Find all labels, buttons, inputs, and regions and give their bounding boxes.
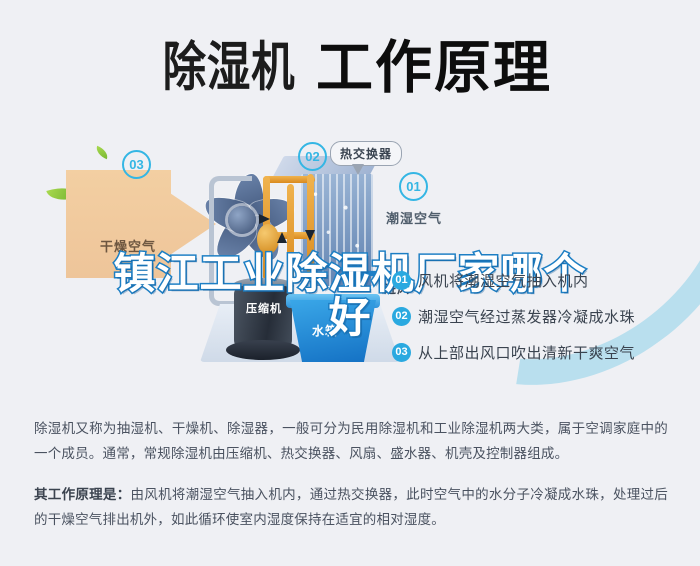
title-part-one: 除湿机 xyxy=(163,25,296,101)
dry-air-label: 干燥空气 xyxy=(100,236,156,255)
heat-exchanger-callout: 热交换器 xyxy=(330,141,402,166)
diagram-badge-02: 02 xyxy=(298,142,327,171)
humid-air-label: 潮湿空气 xyxy=(386,208,442,227)
page-root: 除湿机工作原理 干燥空气 03 xyxy=(0,0,700,566)
paragraph-two: 其工作原理是：由风机将潮湿空气抽入机内，通过热交换器，此时空气中的水分子冷凝成水… xyxy=(34,482,668,532)
step-list: 01 风机将潮湿空气抽入机内 02 潮湿空气经过蒸发器冷凝成水珠 03 从上部出… xyxy=(392,262,692,370)
compressor-label: 压缩机 xyxy=(246,300,282,316)
flow-arrow-up-icon xyxy=(277,232,287,243)
refrigerant-pipes-icon xyxy=(253,170,323,288)
water-tank-label: 水箱 xyxy=(312,322,338,339)
list-item: 02 潮湿空气经过蒸发器冷凝成水珠 xyxy=(392,298,692,334)
step-text: 从上部出风口吹出清新干爽空气 xyxy=(418,342,635,363)
compressor-base-ring xyxy=(226,340,300,360)
body-copy: 除湿机又称为抽湿机、干燥机、除湿器，一般可分为民用除湿机和工业除湿机两大类，属于… xyxy=(34,416,668,548)
leaf-icon xyxy=(94,146,110,160)
diagram-badge-03: 03 xyxy=(122,150,151,179)
diagram-badge-01: 01 xyxy=(399,172,428,201)
paragraph-one: 除湿机又称为抽湿机、干燥机、除湿器，一般可分为民用除湿机和工业除湿机两大类，属于… xyxy=(34,416,668,466)
step-text: 风机将潮湿空气抽入机内 xyxy=(418,270,589,291)
heat-exchanger-unit xyxy=(275,156,385,291)
step-number-badge: 01 xyxy=(392,271,411,290)
flow-arrow-right-icon xyxy=(259,214,270,224)
flow-arrow-down-icon xyxy=(305,230,315,241)
step-number-badge: 03 xyxy=(392,343,411,362)
list-item: 01 风机将潮湿空气抽入机内 xyxy=(392,262,692,298)
paragraph-two-lead: 其工作原理是： xyxy=(34,487,131,502)
callout-pointer-icon xyxy=(352,164,364,175)
step-number-badge: 02 xyxy=(392,307,411,326)
step-text: 潮湿空气经过蒸发器冷凝成水珠 xyxy=(418,306,635,327)
list-item: 03 从上部出风口吹出清新干爽空气 xyxy=(392,334,692,370)
